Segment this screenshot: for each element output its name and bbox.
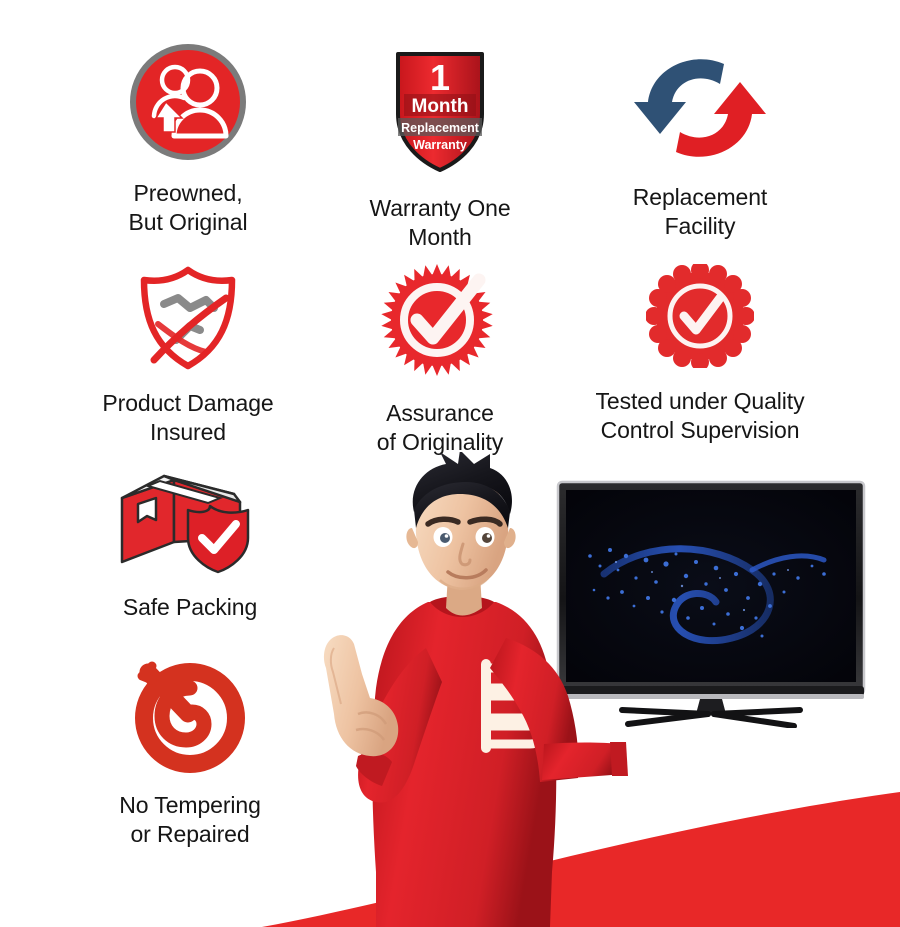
feature-label: Product Damage Insured [102, 389, 273, 446]
feature-label: Safe Packing [123, 593, 257, 622]
mascot-torso [372, 602, 556, 927]
flat-screen-tv [556, 478, 866, 728]
mascot-chest-logo [486, 664, 549, 748]
feature-assurance: Assurance of Originality [330, 262, 550, 456]
badge-line4: Warranty [413, 138, 467, 152]
mascot-pointing-hand [324, 635, 398, 756]
mascot-character [300, 452, 630, 927]
feature-preowned: Preowned, But Original [58, 44, 318, 236]
tv-stand-legs [622, 710, 800, 726]
promo-banner: Preowned, But Original 1 Month [0, 0, 900, 927]
mascot-left-arm [358, 648, 442, 803]
tv-screen-art [588, 548, 826, 641]
mascot-hair [413, 452, 512, 514]
no-wrench-circle-icon [130, 656, 250, 779]
feature-warranty: 1 Month Replacement Warranty Warranty On… [330, 46, 550, 251]
badge-number: 1 [430, 57, 450, 98]
feature-tested-quality: Tested under Quality Control Supervision [570, 264, 830, 444]
warranty-shield-badge-icon: 1 Month Replacement Warranty [384, 46, 496, 183]
feature-safe-packing: Safe Packing [70, 472, 310, 622]
feature-label: Tested under Quality Control Supervision [596, 387, 805, 444]
mascot-head [406, 452, 515, 616]
feature-label: Preowned, But Original [129, 179, 248, 236]
mascot-right-arm [490, 638, 579, 782]
feature-label: No Tempering or Repaired [119, 791, 261, 848]
feature-product-damage: Product Damage Insured [58, 264, 318, 446]
feature-label: Assurance of Originality [377, 399, 503, 456]
feature-no-tempering: No Tempering or Repaired [70, 656, 310, 848]
feature-label: Replacement Facility [633, 183, 767, 240]
feature-replacement: Replacement Facility [580, 48, 820, 240]
cracked-shield-icon [128, 264, 248, 377]
quality-check-seal-icon [646, 264, 754, 373]
box-shield-check-icon [116, 472, 264, 581]
badge-period: Month [412, 96, 469, 117]
badge-line3: Replacement [401, 121, 480, 135]
starburst-check-seal-icon [379, 262, 501, 383]
replacement-arrows-icon [632, 48, 768, 173]
preowned-user-circle-icon [130, 44, 246, 165]
feature-label: Warranty One Month [369, 194, 510, 251]
